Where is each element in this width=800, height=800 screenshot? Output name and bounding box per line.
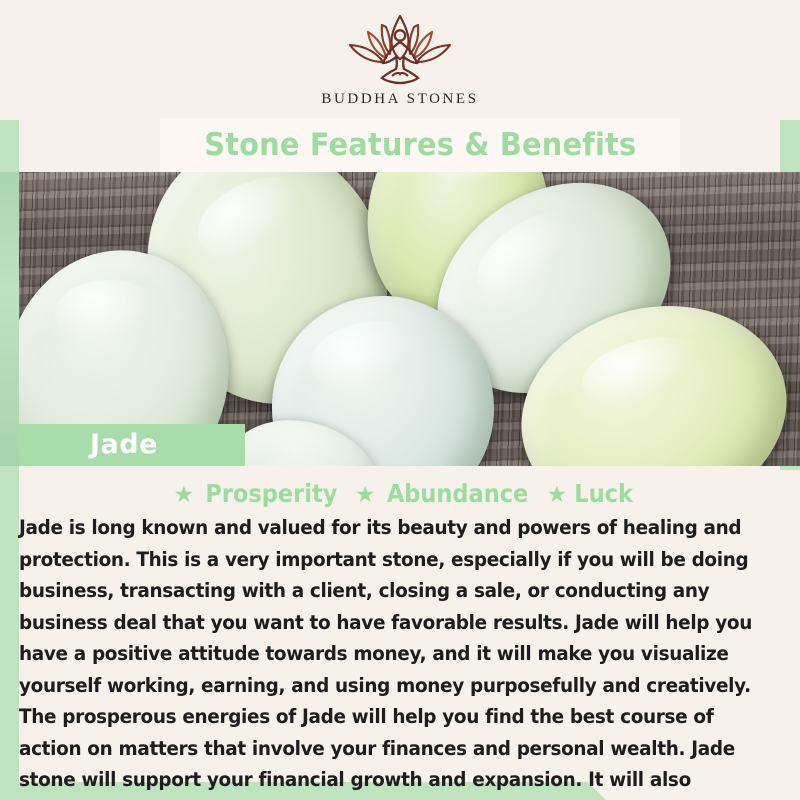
stone-photo <box>0 172 800 466</box>
benefit-item-luck: Luck <box>575 479 634 508</box>
benefits-row: ★Prosperity★Abundance★Luck <box>0 479 800 508</box>
benefit-item-abundance: Abundance <box>387 479 528 508</box>
star-icon: ★ <box>174 482 195 508</box>
stone-description: Jade is long known and valued for its be… <box>19 512 758 800</box>
star-icon: ★ <box>547 482 568 508</box>
stone-name-label: Jade <box>90 429 158 460</box>
brand-logo: BUDDHA STONES <box>0 0 800 120</box>
title-banner: Stone Features & Benefits <box>160 118 680 172</box>
brand-wordmark: BUDDHA STONES <box>321 91 478 108</box>
page-title: Stone Features & Benefits <box>204 127 636 163</box>
star-icon: ★ <box>355 482 376 508</box>
benefit-item-prosperity: Prosperity <box>205 479 337 508</box>
lotus-meditation-icon <box>334 13 466 87</box>
stone-info-card: BUDDHA STONES Stone Features & Benefits … <box>0 0 800 800</box>
stone-gloss <box>55 280 161 346</box>
